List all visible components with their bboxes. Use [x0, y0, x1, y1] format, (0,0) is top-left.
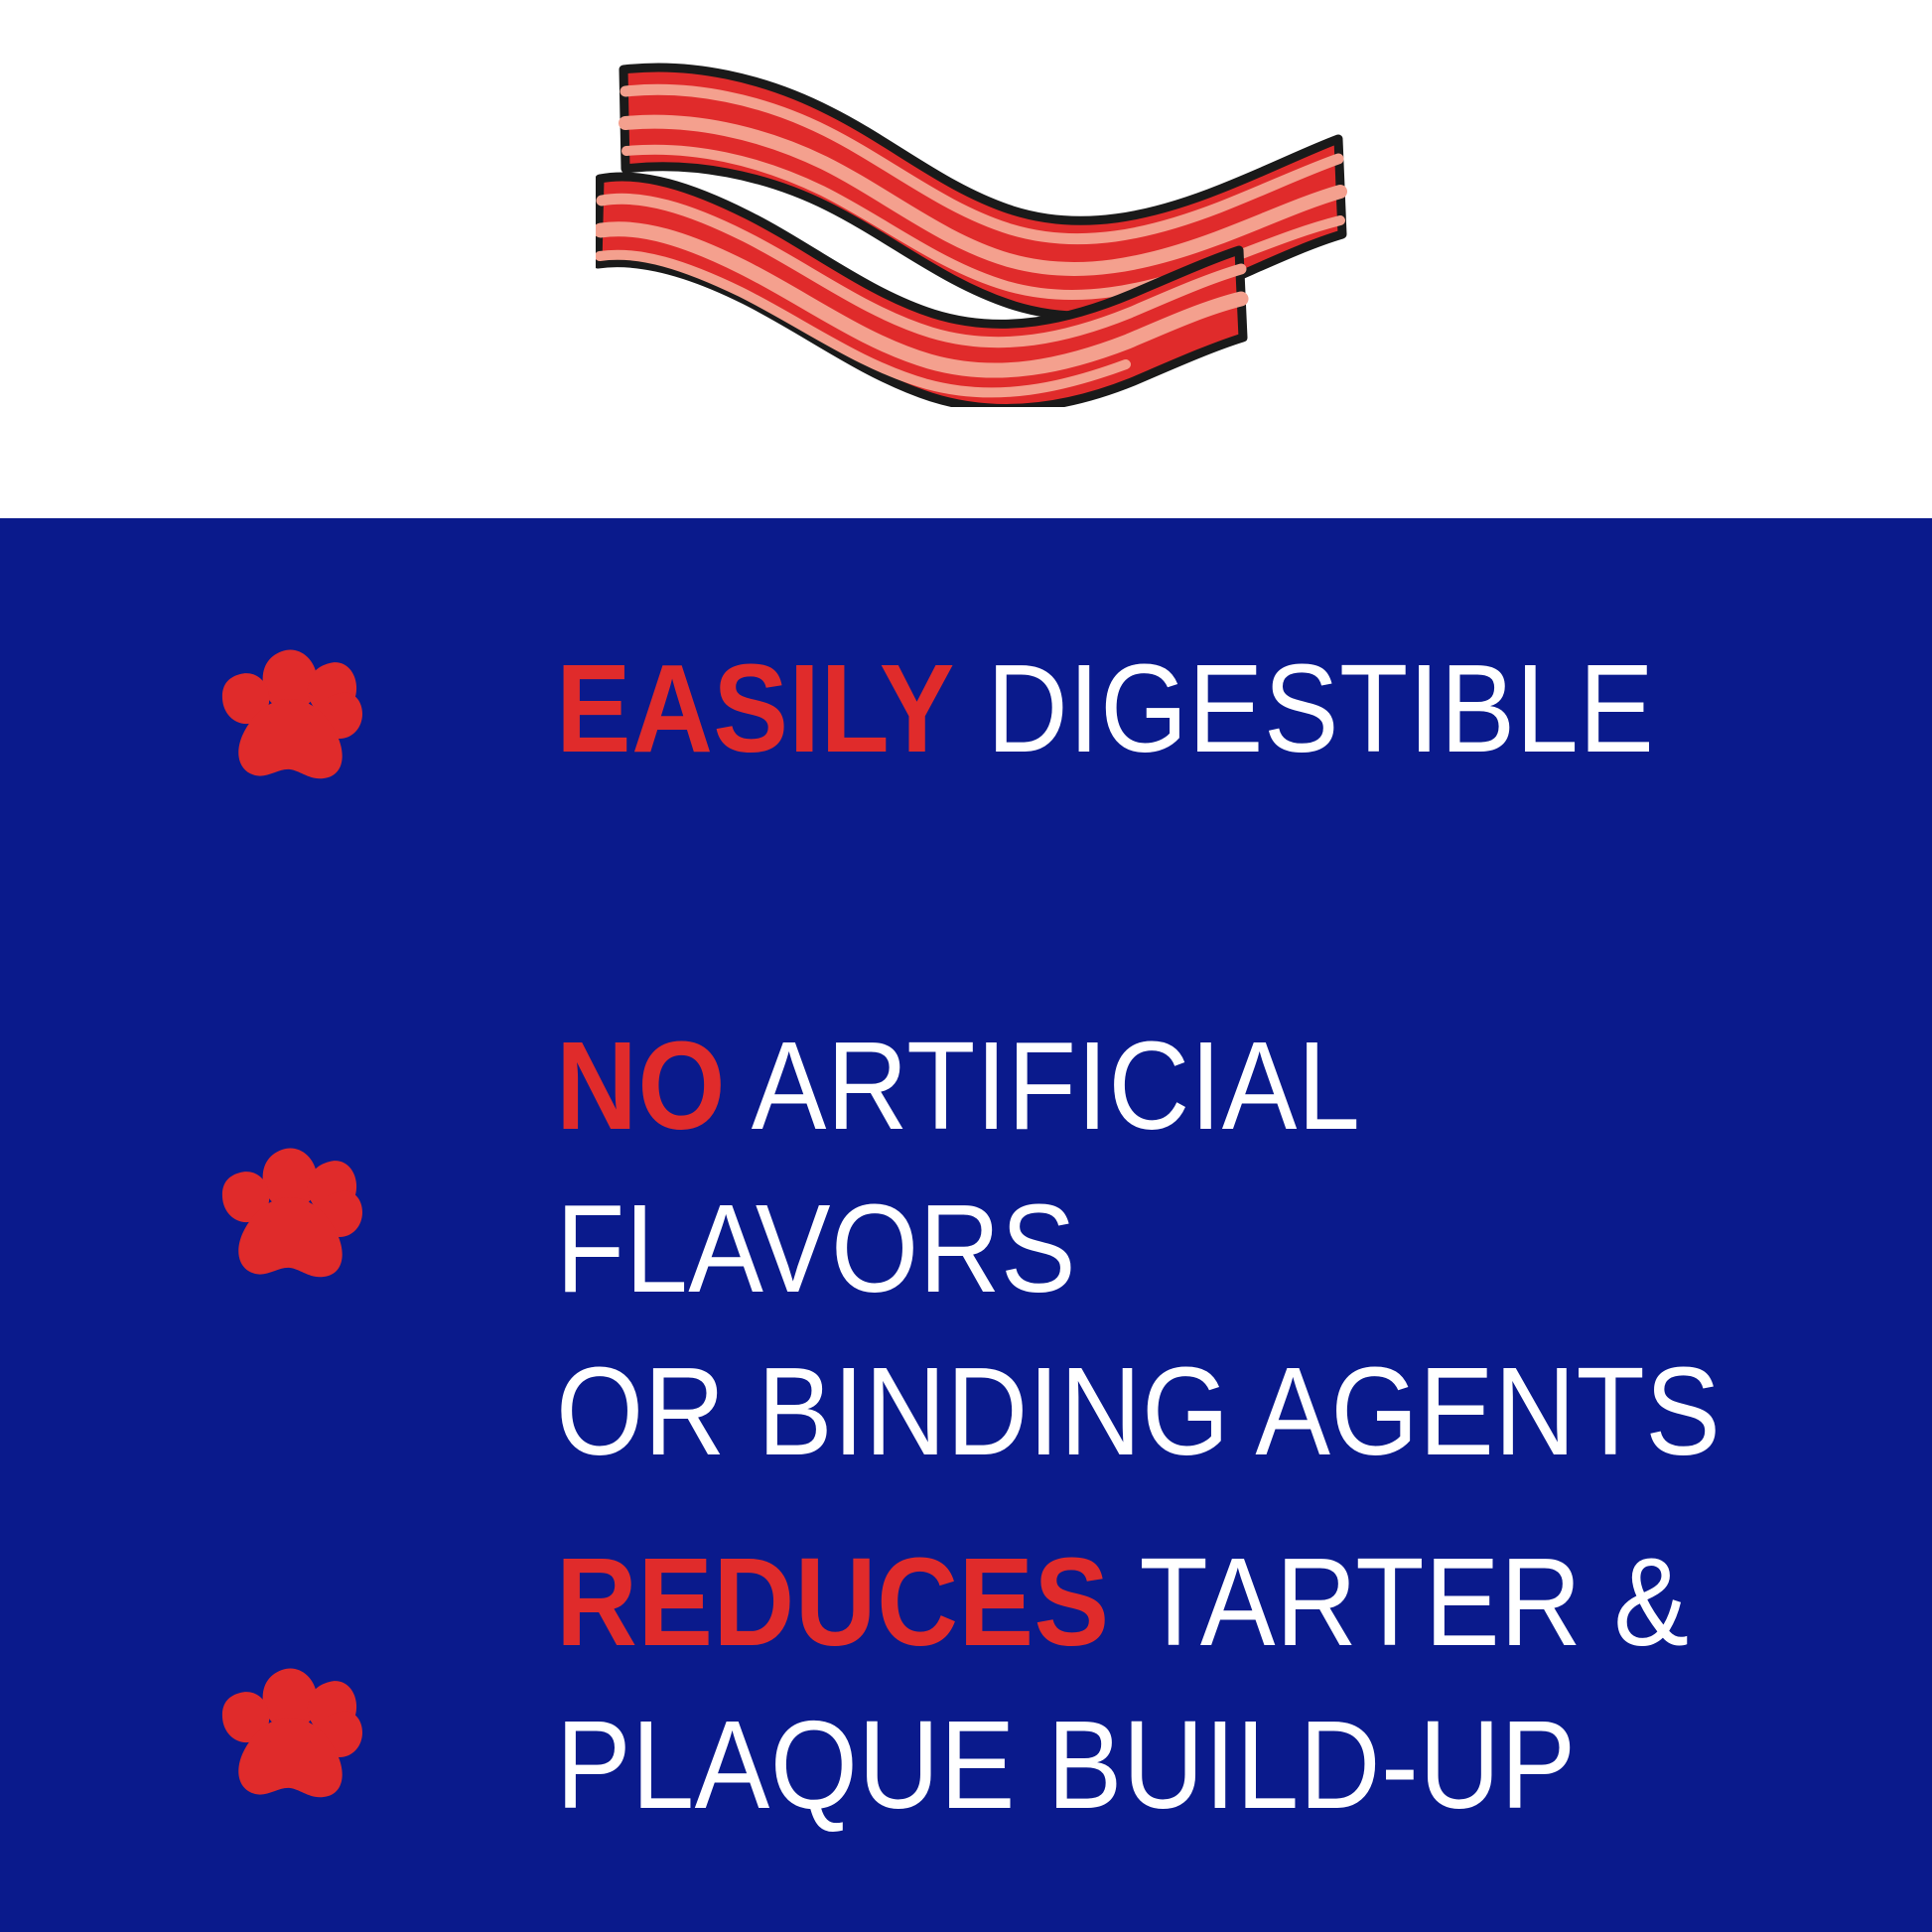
product-feature-poster: EASILY DIGESTIBLE NO ARTIFICIAL FLAVORS … — [0, 0, 1932, 1932]
feature-label: NO ARTIFICIAL FLAVORS OR BINDING AGENTS — [556, 1005, 1794, 1492]
feature-item: REDUCES TARTER & PLAQUE BUILD-UP — [0, 1521, 1932, 1847]
feature-accent-word: EASILY — [556, 638, 955, 778]
paw-print-icon — [220, 1660, 369, 1799]
paw-print-icon — [220, 1140, 369, 1279]
feature-icon-cell — [0, 1005, 556, 1279]
feature-label: REDUCES TARTER & PLAQUE BUILD-UP — [556, 1521, 1794, 1847]
bacon-strips-illustration — [596, 40, 1370, 407]
features-panel: EASILY DIGESTIBLE NO ARTIFICIAL FLAVORS … — [0, 518, 1932, 1932]
hero-banner — [0, 0, 1932, 518]
feature-rest-words: ARTIFICIAL FLAVORS OR BINDING AGENTS — [556, 1016, 1721, 1481]
feature-item: NO ARTIFICIAL FLAVORS OR BINDING AGENTS — [0, 1005, 1932, 1492]
feature-accent-word: NO — [556, 1016, 726, 1156]
feature-item: EASILY DIGESTIBLE — [0, 627, 1932, 790]
feature-accent-word: REDUCES — [556, 1532, 1110, 1672]
feature-icon-cell — [0, 1521, 556, 1799]
paw-print-icon — [220, 641, 369, 780]
feature-label: EASILY DIGESTIBLE — [556, 627, 1794, 790]
feature-rest-words: DIGESTIBLE — [955, 638, 1654, 778]
feature-icon-cell — [0, 627, 556, 780]
